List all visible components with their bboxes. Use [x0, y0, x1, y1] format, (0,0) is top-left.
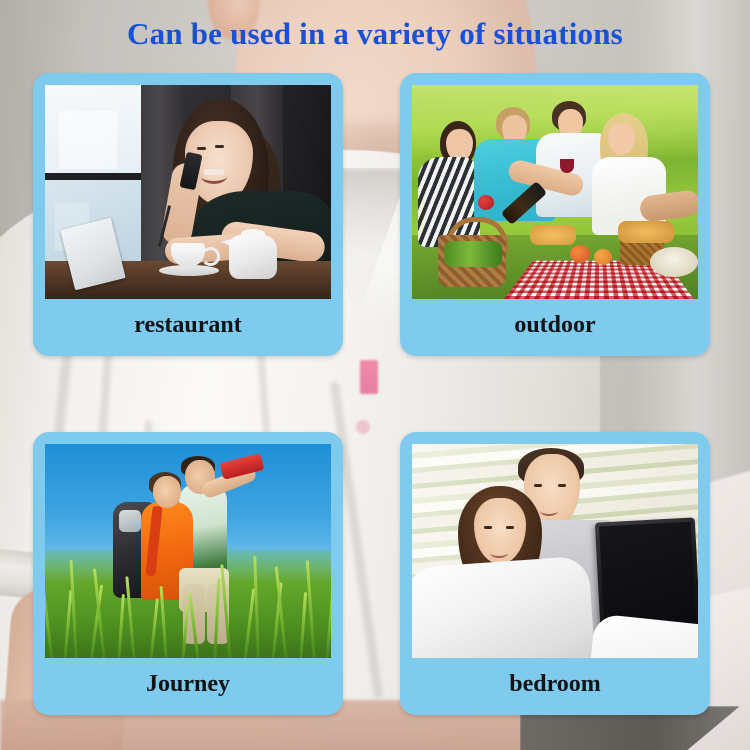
man-eye	[534, 484, 542, 487]
card-caption-outdoor: outdoor	[400, 301, 710, 349]
card-caption-journey: Journey	[33, 660, 343, 708]
photo-outdoor	[412, 85, 698, 299]
hiker-woman-head	[153, 476, 181, 508]
card-caption-bedroom: bedroom	[400, 660, 710, 708]
fruit	[594, 249, 612, 265]
situation-card-restaurant[interactable]: restaurant	[33, 73, 343, 356]
pastry-platter	[618, 221, 674, 243]
backpack-pocket	[119, 510, 141, 532]
woman-eye	[484, 526, 492, 529]
woman-smile	[490, 548, 508, 558]
situation-card-outdoor[interactable]: outdoor	[400, 73, 710, 356]
situation-card-journey[interactable]: Journey	[33, 432, 343, 715]
page-title: Can be used in a variety of situations	[0, 17, 750, 51]
man-smile	[540, 506, 558, 516]
cup-handle	[201, 247, 220, 266]
situations-grid: restaurant	[33, 73, 717, 715]
woman-eye	[197, 147, 206, 150]
wine-glass	[560, 159, 574, 173]
woman-eye	[215, 145, 224, 148]
photo-restaurant	[45, 85, 331, 299]
apple	[478, 195, 494, 210]
card-caption-restaurant: restaurant	[33, 301, 343, 349]
situation-card-bedroom[interactable]: bedroom	[400, 432, 710, 715]
straw-hat	[650, 247, 698, 277]
woman-smile	[201, 169, 227, 184]
photo-bedroom	[412, 444, 698, 658]
bed-duvet	[412, 556, 596, 658]
photo-journey	[45, 444, 331, 658]
teapot	[229, 235, 277, 279]
promo-banner: Can be used in a variety of situations	[0, 0, 750, 750]
woman-eye	[506, 526, 514, 529]
man-eye	[558, 484, 566, 487]
fruit	[570, 245, 590, 263]
bread-platter	[530, 225, 576, 245]
window-building	[59, 111, 117, 169]
vegetables	[444, 241, 502, 267]
teapot-lid	[241, 229, 265, 238]
